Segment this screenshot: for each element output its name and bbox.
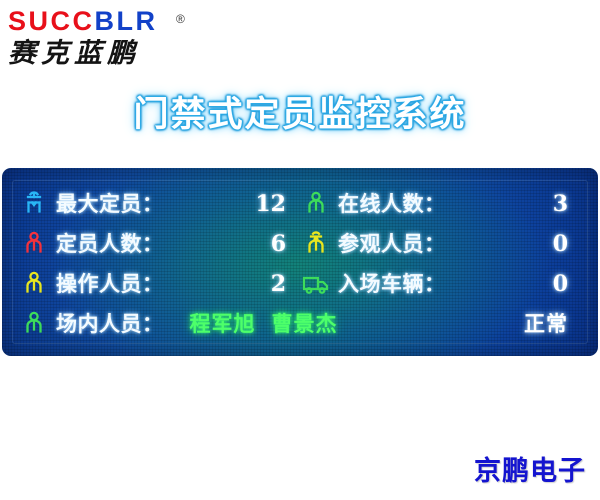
led-row: 操作人员： 2 入场车辆： <box>18 266 582 302</box>
led-row: 定员人数： 6 <box>18 226 582 262</box>
led-cell-registered-count: 定员人数： 6 <box>18 226 300 262</box>
led-content: 最大定员： 12 在线人数： 3 <box>2 168 598 356</box>
person-icon <box>18 308 50 340</box>
person-icon <box>300 188 332 220</box>
person-cap-icon <box>18 188 50 220</box>
footer-company-name: 京鹏电子 <box>474 456 586 488</box>
page-root: SUCCBLR ® 赛克蓝鹏 门禁式定员监控系统 <box>0 0 600 500</box>
led-value: 12 <box>164 191 301 217</box>
led-cell-operator-count: 操作人员： 2 <box>18 266 300 302</box>
person-icon <box>18 228 50 260</box>
person-icon <box>18 268 50 300</box>
status-badge: 正常 <box>524 311 582 337</box>
company-logo: SUCCBLR ® 赛克蓝鹏 <box>8 6 238 72</box>
led-label: 操作人员： <box>56 271 164 297</box>
registered-trademark-icon: ® <box>176 4 187 34</box>
onsite-names-list: 程军旭 曹景杰 <box>164 311 525 337</box>
led-label: 最大定员： <box>56 191 164 217</box>
led-cell-visitor-count: 参观人员： 0 <box>300 226 582 262</box>
led-cell-online-count: 在线人数： 3 <box>300 186 582 222</box>
led-value: 0 <box>446 231 583 257</box>
logo-latin-blue: BLR <box>95 6 158 36</box>
logo-latin-text: SUCCBLR ® <box>8 6 238 36</box>
led-label: 入场车辆： <box>338 271 446 297</box>
led-cell-max-capacity: 最大定员： 12 <box>18 186 300 222</box>
led-value: 2 <box>164 271 301 297</box>
led-label: 场内人员： <box>56 311 164 337</box>
page-title: 门禁式定员监控系统 <box>0 92 600 138</box>
led-display-panel: 最大定员： 12 在线人数： 3 <box>2 168 598 356</box>
person-cap-icon <box>300 228 332 260</box>
led-cell-vehicle-count: 入场车辆： 0 <box>300 266 582 302</box>
led-label: 定员人数： <box>56 231 164 257</box>
led-row-onsite-personnel: 场内人员： 程军旭 曹景杰 正常 <box>18 306 582 342</box>
led-value: 6 <box>164 231 301 257</box>
logo-latin-red: SUCC <box>8 6 95 36</box>
led-value: 3 <box>446 191 583 217</box>
led-value: 0 <box>446 271 583 297</box>
list-item: 程军旭 <box>190 311 256 337</box>
truck-icon <box>300 268 332 300</box>
led-label: 参观人员： <box>338 231 446 257</box>
led-row: 最大定员： 12 在线人数： 3 <box>18 186 582 222</box>
led-label: 在线人数： <box>338 191 446 217</box>
logo-chinese-text: 赛克蓝鹏 <box>8 38 238 69</box>
list-item: 曹景杰 <box>272 311 338 337</box>
